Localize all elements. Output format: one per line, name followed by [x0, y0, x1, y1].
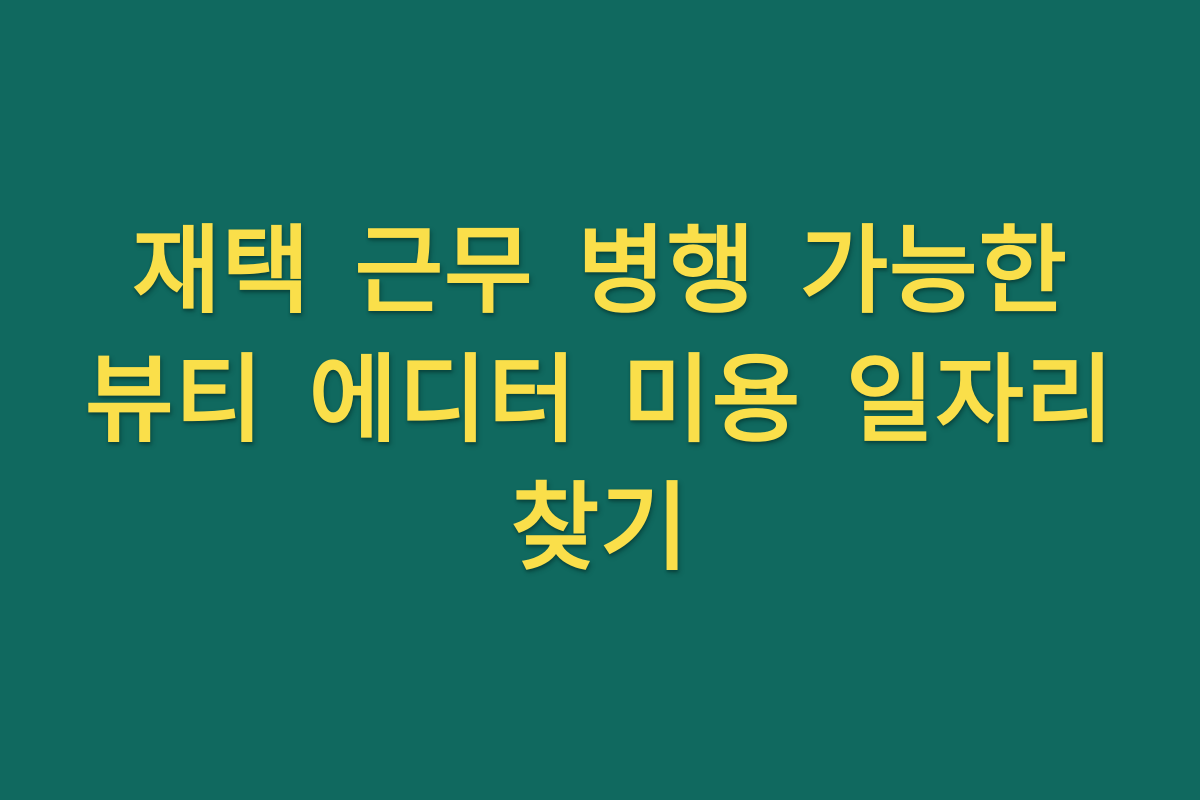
headline-line-3: 찾기: [60, 464, 1140, 593]
banner-canvas: 재택 근무 병행 가능한 뷰티 에디터 미용 일자리 찾기: [0, 0, 1200, 800]
headline: 재택 근무 병행 가능한 뷰티 에디터 미용 일자리 찾기: [60, 207, 1140, 593]
headline-line-2: 뷰티 에디터 미용 일자리: [60, 336, 1140, 465]
headline-line-1: 재택 근무 병행 가능한: [60, 207, 1140, 336]
